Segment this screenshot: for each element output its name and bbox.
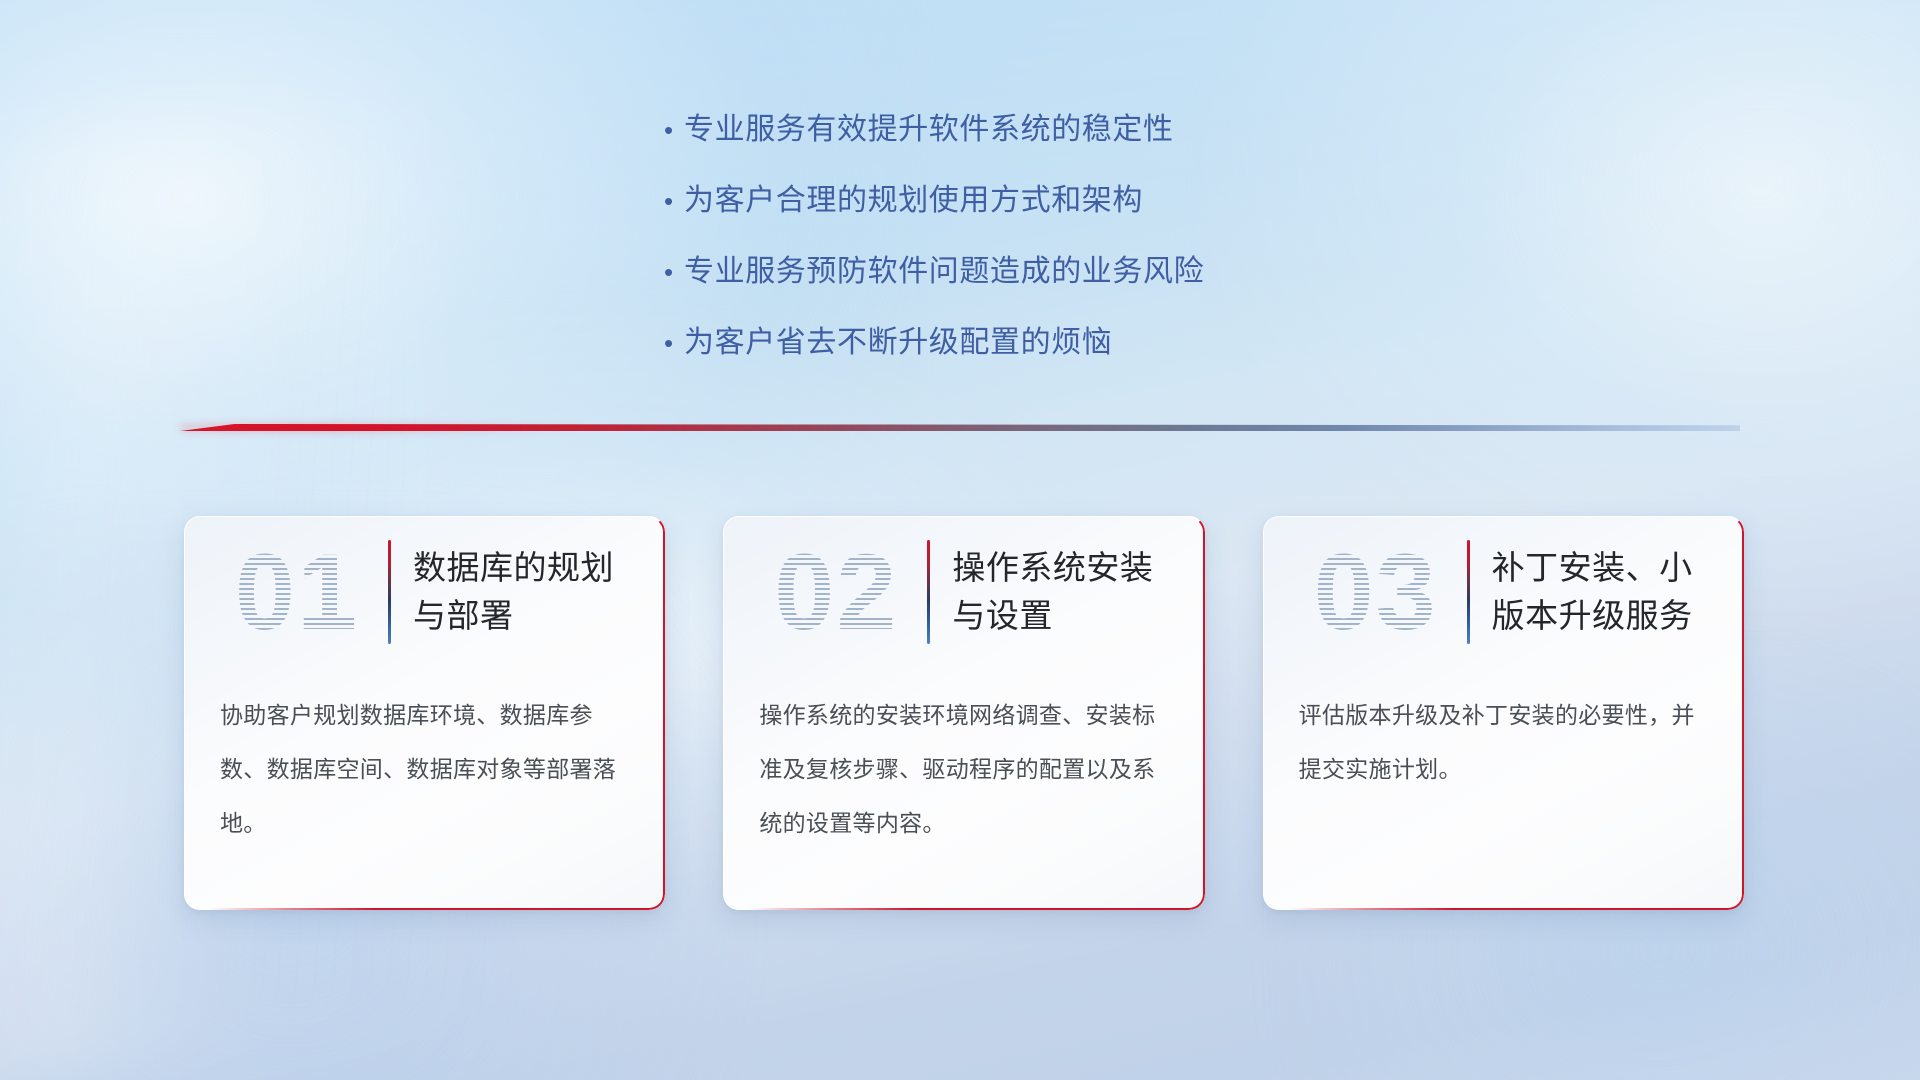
service-card-group: 01 数据库的规划与部署 协助客户规划数据库环境、数据库参数、数据库空间、数据库… xyxy=(184,516,1744,910)
bullet-text: 专业服务有效提升软件系统的稳定性 xyxy=(684,108,1174,152)
section-divider xyxy=(180,420,1740,436)
service-card[interactable]: 02 操作系统安装与设置 操作系统的安装环境网络调查、安装标准及复核步骤、驱动程… xyxy=(723,516,1204,910)
card-vertical-rule xyxy=(927,540,930,644)
card-body-text: 协助客户规划数据库环境、数据库参数、数据库空间、数据库对象等部署落地。 xyxy=(184,668,665,850)
service-card[interactable]: 03 补丁安装、小版本升级服务 评估版本升级及补丁安装的必要性，并提交实施计划。 xyxy=(1263,516,1744,910)
service-card[interactable]: 01 数据库的规划与部署 协助客户规划数据库环境、数据库参数、数据库空间、数据库… xyxy=(184,516,665,910)
card-header: 01 数据库的规划与部署 xyxy=(184,516,665,668)
list-item: • 专业服务有效提升软件系统的稳定性 xyxy=(660,108,1420,152)
bullet-text: 为客户合理的规划使用方式和架构 xyxy=(684,179,1143,223)
card-body-text: 评估版本升级及补丁安装的必要性，并提交实施计划。 xyxy=(1263,668,1744,796)
card-title: 补丁安装、小版本升级服务 xyxy=(1492,544,1718,640)
list-item: • 专业服务预防软件问题造成的业务风险 xyxy=(660,250,1420,294)
card-header: 03 补丁安装、小版本升级服务 xyxy=(1263,516,1744,668)
divider-gradient-line xyxy=(180,424,1740,431)
benefits-bullet-list: • 专业服务有效提升软件系统的稳定性 • 为客户合理的规划使用方式和架构 • 专… xyxy=(660,108,1420,392)
card-vertical-rule xyxy=(1467,540,1470,644)
card-number-striped: 02 xyxy=(747,528,925,656)
bullet-text: 为客户省去不断升级配置的烦恼 xyxy=(684,321,1112,365)
list-item: • 为客户省去不断升级配置的烦恼 xyxy=(660,321,1420,365)
bullet-dot-icon: • xyxy=(660,179,684,223)
card-number-striped: 01 xyxy=(208,528,386,656)
bullet-dot-icon: • xyxy=(660,108,684,152)
card-body-text: 操作系统的安装环境网络调查、安装标准及复核步骤、驱动程序的配置以及系统的设置等内… xyxy=(723,668,1204,850)
card-number-striped: 03 xyxy=(1287,528,1465,656)
card-title: 数据库的规划与部署 xyxy=(413,544,639,640)
card-header: 02 操作系统安装与设置 xyxy=(723,516,1204,668)
bullet-dot-icon: • xyxy=(660,321,684,365)
bullet-dot-icon: • xyxy=(660,250,684,294)
card-vertical-rule xyxy=(388,540,391,644)
bullet-text: 专业服务预防软件问题造成的业务风险 xyxy=(684,250,1204,294)
list-item: • 为客户合理的规划使用方式和架构 xyxy=(660,179,1420,223)
card-title: 操作系统安装与设置 xyxy=(952,544,1178,640)
